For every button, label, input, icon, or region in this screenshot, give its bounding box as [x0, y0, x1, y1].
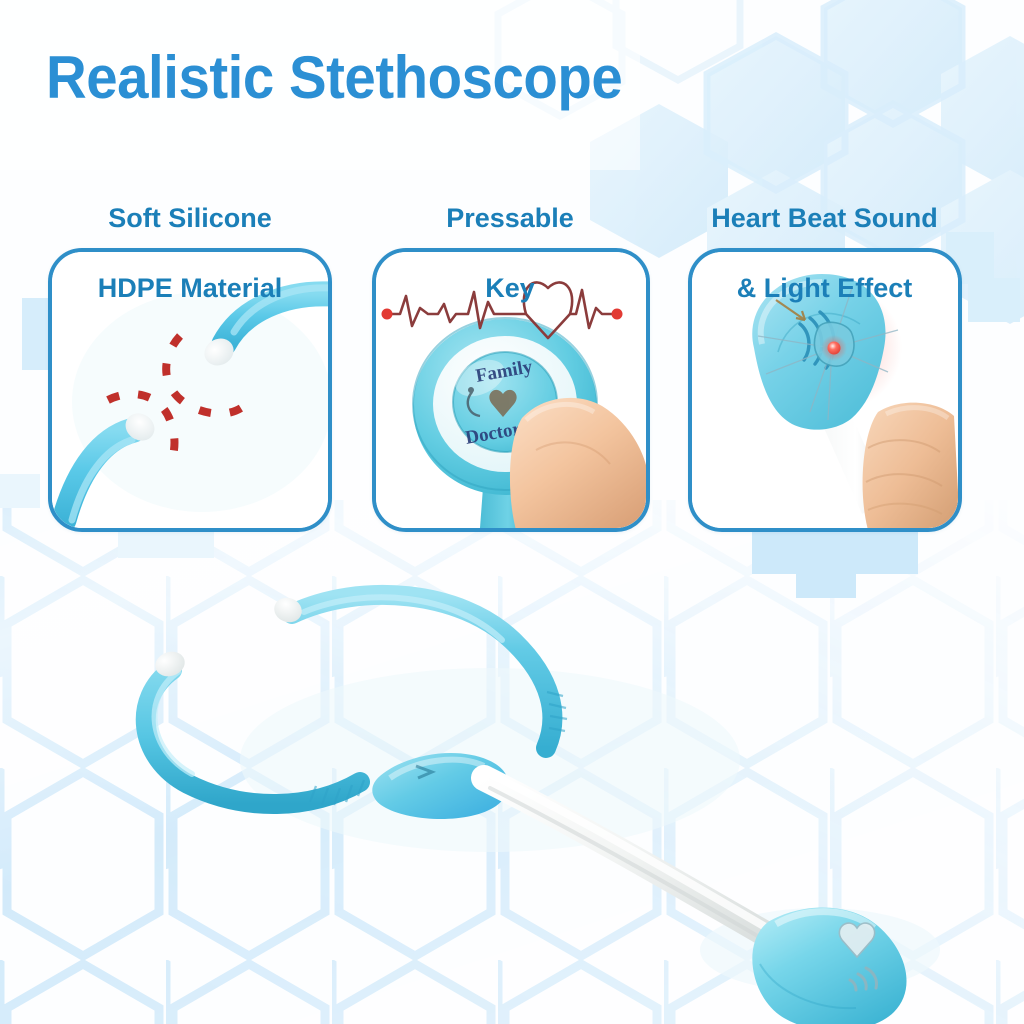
caption-line: & Light Effect: [672, 271, 977, 306]
caption-line: Key: [370, 271, 650, 306]
infographic-canvas: Realistic Stethoscope Soft Silicone HDPE…: [0, 0, 1024, 1024]
deco-block-left-lower: [0, 474, 40, 508]
feature-caption-pressable-key: Pressable Key: [370, 166, 650, 341]
page-title: Realistic Stethoscope: [46, 42, 760, 114]
stethoscope-product-photo: [60, 520, 980, 1020]
holding-hand: [863, 403, 960, 530]
feature-caption-soft-silicone: Soft Silicone HDPE Material: [40, 166, 340, 341]
feature-caption-heart-beat-sound: Heart Beat Sound & Light Effect: [672, 166, 977, 341]
stethoscope-illustration: [60, 520, 980, 1020]
caption-line: Heart Beat Sound: [672, 201, 977, 236]
caption-line: HDPE Material: [40, 271, 340, 306]
led-core: [828, 342, 841, 355]
caption-line: Soft Silicone: [40, 201, 340, 236]
caption-line: Pressable: [370, 201, 650, 236]
